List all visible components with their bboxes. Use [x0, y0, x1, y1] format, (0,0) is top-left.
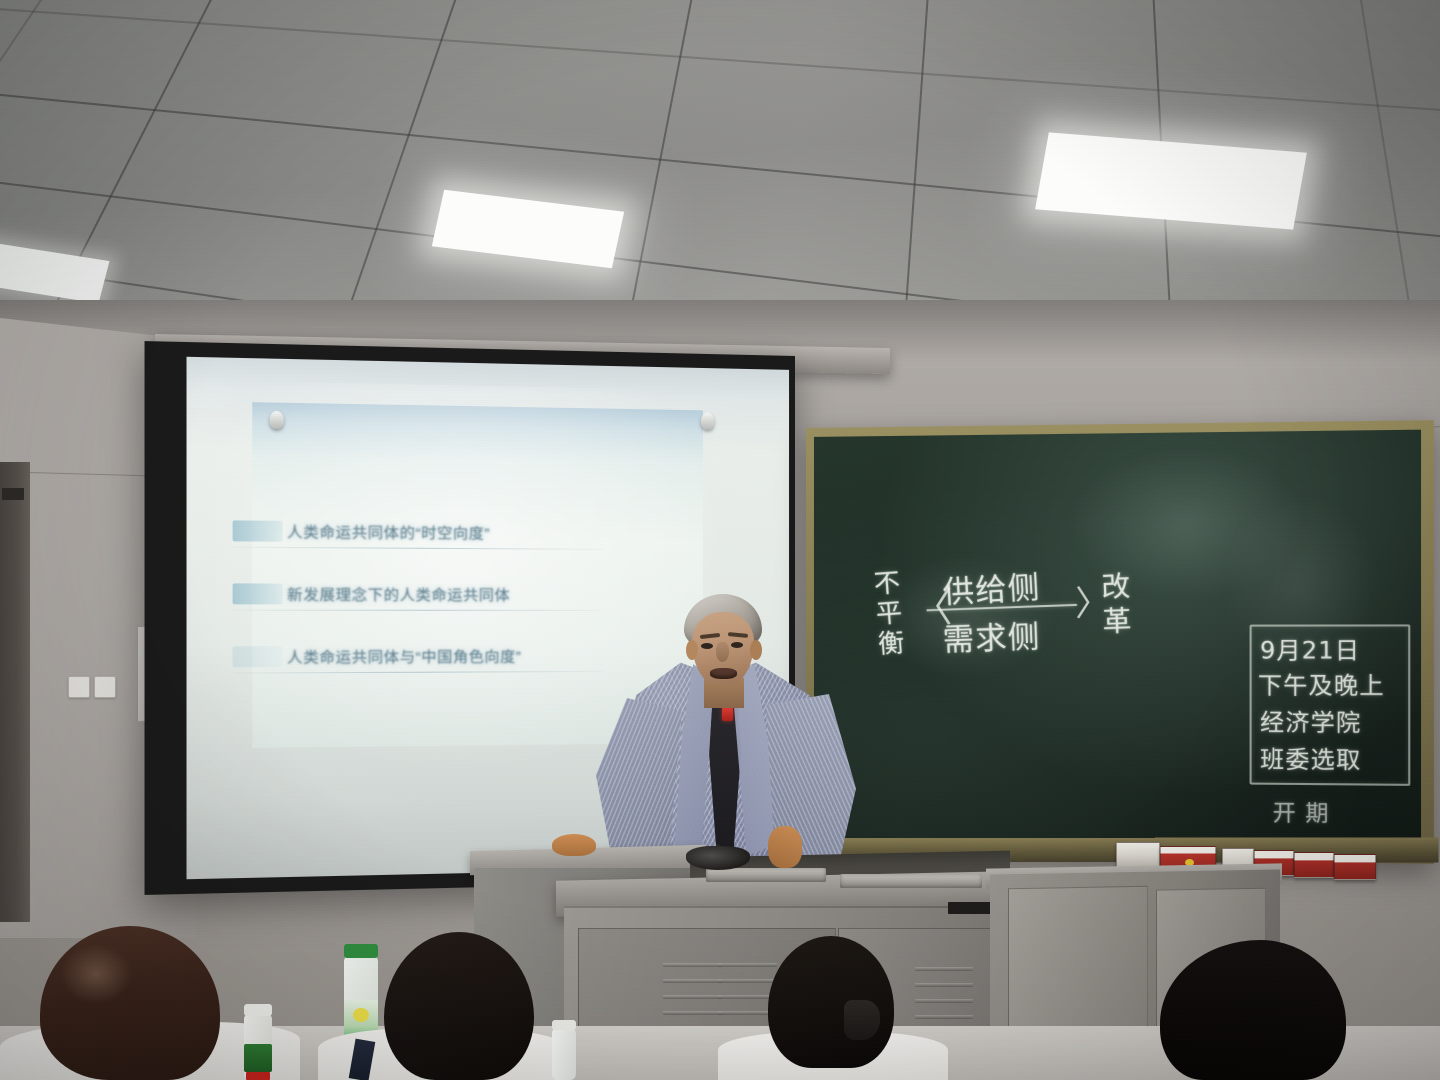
vent-louver [915, 1015, 973, 1019]
door-vent [2, 488, 24, 500]
vent-louver [663, 963, 721, 967]
bottle-white[interactable] [244, 1014, 272, 1080]
microphone-icon[interactable] [686, 846, 750, 870]
blackboard[interactable]: 不平衡 〈 供给侧 需求侧 〉 改革 9月21日 下午及晚上 经济学院 班委选取… [806, 420, 1434, 864]
slide-underline [233, 610, 604, 611]
slide-bullet-row: 人类命运共同体与“中国角色向度” [233, 642, 606, 670]
slide-pin-icon [270, 411, 284, 429]
bottle-cap-icon [244, 1004, 272, 1016]
slide-bullet-chip [233, 646, 283, 667]
blackboard-surface: 不平衡 〈 供给侧 需求侧 〉 改革 9月21日 下午及晚上 经济学院 班委选取… [814, 430, 1421, 854]
face-mask-icon [844, 1000, 880, 1040]
vent-louver [719, 963, 777, 967]
classroom-photo: 人类命运共同体的“时空向度” 新发展理念下的人类命运共同体 人类命运共同体与“中… [0, 0, 1440, 1080]
chalk-box-item[interactable] [1116, 842, 1160, 868]
lecturer-eye-left [701, 643, 713, 649]
chalk-announce-footer: 开 期 [1273, 795, 1330, 828]
lecturer-eye-right [731, 642, 743, 648]
slide-bullet-chip [233, 520, 283, 541]
vent-louver [915, 983, 973, 987]
chalk-announce-line-3: 经济学院 [1260, 703, 1361, 738]
lecturer-hand-left [552, 834, 596, 856]
vent-louver [663, 995, 721, 999]
slide-line-2: 新发展理念下的人类命运共同体 [287, 583, 510, 605]
vent-louver [663, 979, 721, 983]
slide-pin-icon [701, 412, 714, 429]
chalk-box-item[interactable] [1294, 852, 1334, 878]
slide-bullet-row: 人类命运共同体的“时空向度” [233, 517, 606, 547]
lecturer-ear-right [750, 640, 762, 660]
bottle-label-emblem-icon [353, 1008, 369, 1022]
lecturer-nose [716, 642, 729, 662]
slide-line-3: 人类命运共同体与“中国角色向度” [287, 645, 521, 667]
slide-line-1: 人类命运共同体的“时空向度” [287, 520, 490, 543]
podium-control-strip[interactable] [840, 874, 982, 888]
slide-bullet-row: 新发展理念下的人类命运共同体 [233, 580, 606, 608]
lecturer-ear-left [686, 640, 698, 660]
bottle-small-clear[interactable] [552, 1028, 576, 1080]
bottle-cap-icon [552, 1020, 576, 1030]
chalk-announce-line-1: 9月21日 [1260, 631, 1360, 666]
chalk-box-item[interactable] [1334, 854, 1376, 880]
vent-louver [719, 979, 777, 983]
chalk-demand-side: 需求侧 [942, 611, 1041, 660]
slide-bullet-chip [233, 583, 283, 604]
bottle-label-accent [246, 1072, 270, 1080]
student-hair-highlight [60, 944, 132, 1004]
lecturer-mouth [710, 668, 737, 679]
chalk-announce-line-2: 下午及晚上 [1258, 666, 1385, 701]
bottle-cap-icon [344, 944, 378, 958]
chalk-not-balanced: 不平衡 [873, 567, 913, 660]
bottle-label [244, 1044, 272, 1072]
podium-control-strip[interactable] [706, 868, 826, 882]
vent-louver [663, 1011, 721, 1015]
chalk-announce-line-4: 班委选取 [1260, 740, 1361, 776]
vent-louver [915, 999, 973, 1003]
door-edge[interactable] [0, 462, 30, 922]
chalk-supply-side: 供给侧 [941, 561, 1041, 612]
lecturer-hand-right [768, 826, 802, 868]
vent-louver [915, 967, 973, 971]
light-switch[interactable] [94, 676, 116, 698]
chalk-reform: 改革 [1101, 569, 1139, 639]
light-switch[interactable] [68, 676, 90, 698]
